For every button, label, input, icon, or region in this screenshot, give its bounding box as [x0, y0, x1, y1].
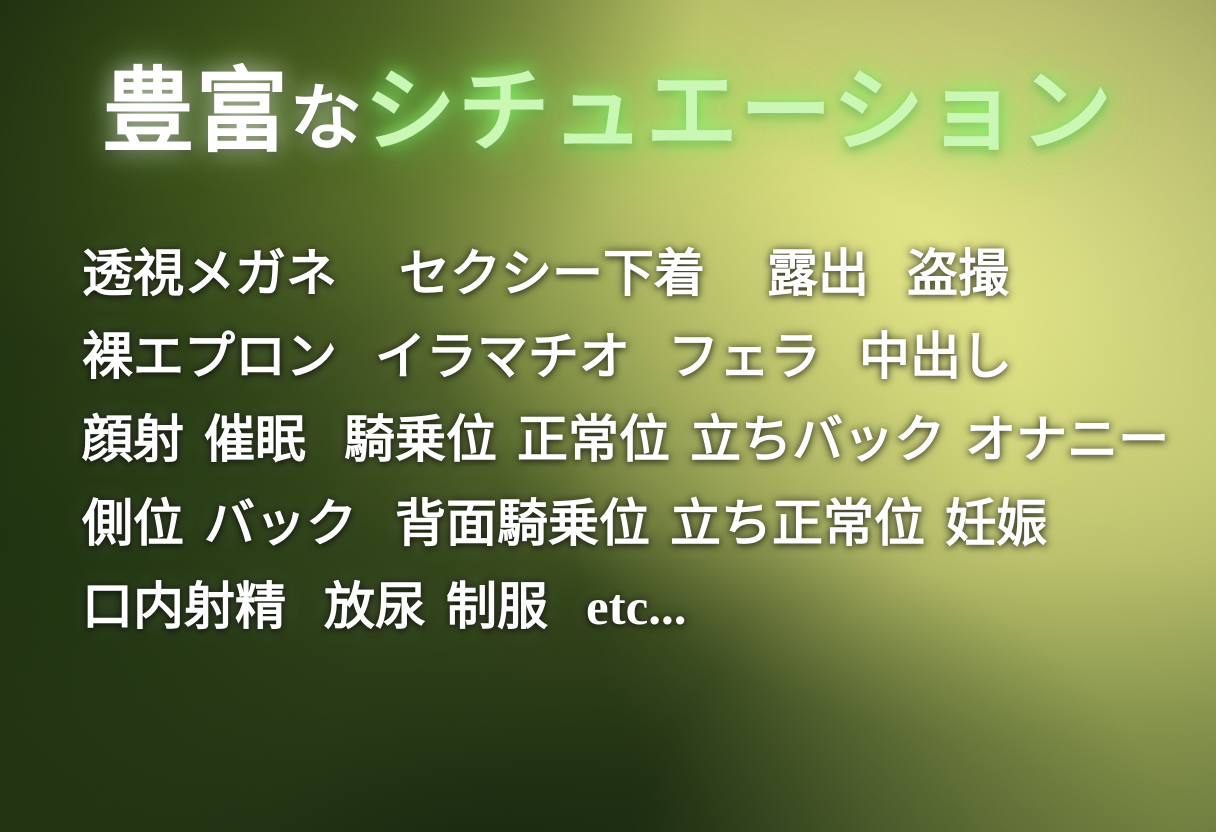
- page-title: 豊富なシチュエーション: [0, 62, 1216, 161]
- tag-row: 透視メガネ セクシー下着 露出 盗撮: [82, 245, 1176, 305]
- situation-tag-list: 透視メガネ セクシー下着 露出 盗撮 裸エプロン イラマチオ フェラ 中出し 顔…: [82, 245, 1176, 661]
- tag-item: 立ちバック: [690, 411, 945, 471]
- tag-item: 側位: [82, 495, 184, 555]
- tag-item: 騎乗位: [344, 411, 497, 471]
- title-segment-particle: な: [290, 76, 364, 160]
- tag-item: 露出: [767, 245, 869, 305]
- tag-item: 裸エプロン: [82, 328, 337, 388]
- tag-row: 口内射精 放尿 制服 etc...: [82, 578, 1176, 638]
- tag-item: 背面騎乗位: [395, 495, 650, 555]
- tag-item: 口内射精: [82, 578, 286, 638]
- tag-item-etc: etc...: [586, 578, 687, 638]
- tag-item: 催眠: [204, 411, 306, 471]
- tag-item: 妊娠: [945, 495, 1047, 555]
- tag-item: セクシー下着: [399, 245, 705, 305]
- tag-row: 顔射 催眠 騎乗位 正常位 立ちバック オナニー: [82, 411, 1176, 471]
- tag-item: 立ち正常位: [670, 495, 925, 555]
- tag-item: 透視メガネ: [82, 245, 337, 305]
- tag-item: イラマチオ: [375, 328, 630, 388]
- tag-item: フェラ: [668, 328, 821, 388]
- tag-item: 正常位: [517, 411, 670, 471]
- tag-item: 放尿: [324, 578, 426, 638]
- tag-row: 側位 バック 背面騎乗位 立ち正常位 妊娠: [82, 495, 1176, 555]
- promo-banner: 豊富なシチュエーション 透視メガネ セクシー下着 露出 盗撮 裸エプロン イラマ…: [0, 0, 1216, 832]
- banner-content: 豊富なシチュエーション 透視メガネ セクシー下着 露出 盗撮 裸エプロン イラマ…: [0, 0, 1216, 832]
- title-segment-accent: シチュエーション: [364, 58, 1114, 165]
- tag-item: 中出し: [859, 328, 1012, 388]
- tag-item: 制服: [446, 578, 548, 638]
- tag-item: 盗撮: [907, 245, 1009, 305]
- tag-item: バック: [204, 495, 357, 555]
- tag-row: 裸エプロン イラマチオ フェラ 中出し: [82, 328, 1176, 388]
- tag-item: 顔射: [82, 411, 184, 471]
- title-segment-primary: 豊富: [102, 58, 290, 165]
- tag-item: オナニー: [965, 411, 1169, 471]
